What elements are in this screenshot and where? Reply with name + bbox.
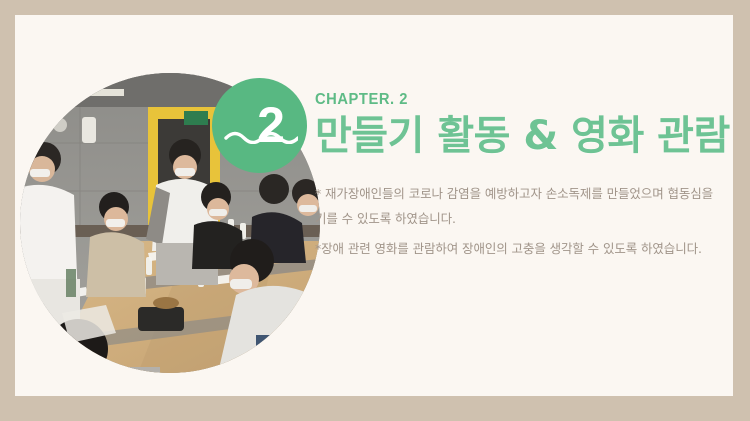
page-title: 만들기 활동 & 영화 관람 — [315, 113, 733, 160]
description-line: *장애 관련 영화를 관람하여 장애인의 고충을 생각할 수 있도록 하였습니다… — [315, 237, 733, 261]
wave-underline-icon — [224, 128, 298, 144]
description-paragraph-1: * 재가장애인들의 코로나 감염을 예방하고자 손소독제를 만들었으며 협동심을… — [315, 182, 733, 231]
chapter-label: CHAPTER. 2 — [315, 91, 706, 109]
text-content: CHAPTER. 2 만들기 활동 & 영화 관람 * 재가장애인들의 코로나 … — [315, 91, 733, 261]
chapter-number-badge: 2 — [212, 78, 307, 173]
description-line: 기를 수 있도록 하였습니다. — [315, 207, 733, 231]
chapter-number: 2 — [212, 78, 307, 173]
slide-canvas: 2 CHAPTER. 2 만들기 활동 & 영화 관람 * 재가장애인들의 코로… — [0, 0, 750, 421]
description-block: * 재가장애인들의 코로나 감염을 예방하고자 손소독제를 만들었으며 협동심을… — [315, 182, 733, 261]
description-paragraph-2: *장애 관련 영화를 관람하여 장애인의 고충을 생각할 수 있도록 하였습니다… — [315, 237, 733, 261]
content-card: 2 CHAPTER. 2 만들기 활동 & 영화 관람 * 재가장애인들의 코로… — [15, 15, 733, 396]
description-line: * 재가장애인들의 코로나 감염을 예방하고자 손소독제를 만들었으며 협동심을 — [315, 182, 733, 206]
